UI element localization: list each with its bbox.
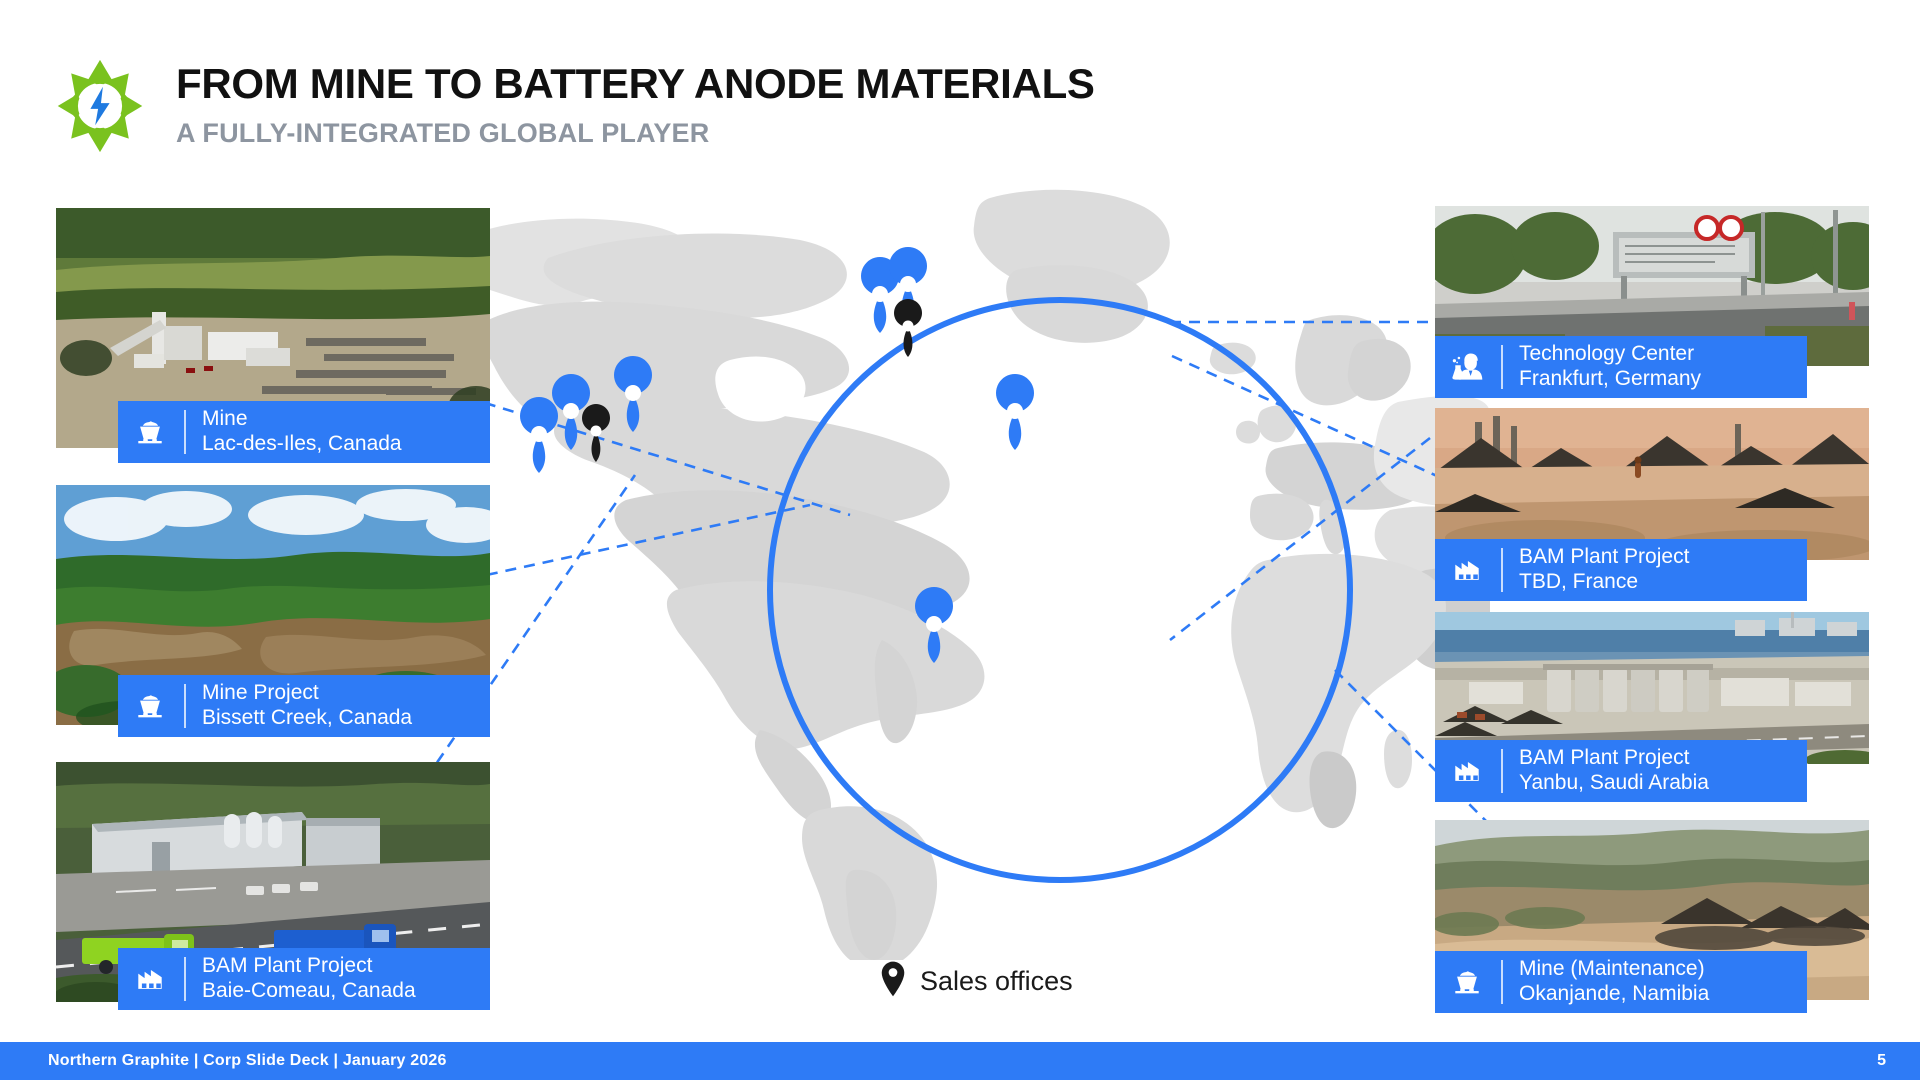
info-label-line1: Mine (Maintenance) xyxy=(1519,957,1705,980)
page-subtitle: A FULLY-INTEGRATED GLOBAL PLAYER xyxy=(176,118,1095,149)
label-divider xyxy=(184,410,186,454)
info-label-line1: Mine Project xyxy=(202,681,319,704)
map-legend: Sales offices xyxy=(880,960,1073,1003)
info-label-line2: Yanbu, Saudi Arabia xyxy=(1519,771,1709,794)
info-label-line2: Frankfurt, Germany xyxy=(1519,367,1701,390)
info-label-left-2: Mine Project Bissett Creek, Canada xyxy=(118,675,490,737)
factory-icon xyxy=(1447,751,1487,791)
info-label-left-1: Mine Lac-des-Iles, Canada xyxy=(118,401,490,463)
info-label-line2: Baie-Comeau, Canada xyxy=(202,979,416,1002)
world-map[interactable] xyxy=(430,170,1490,960)
map-legend-label: Sales offices xyxy=(920,966,1073,997)
info-label-text: BAM Plant Project Yanbu, Saudi Arabia xyxy=(1519,746,1709,796)
info-label-line1: BAM Plant Project xyxy=(202,954,372,977)
mine-cart-icon xyxy=(130,412,170,452)
label-divider xyxy=(184,684,186,728)
pin-lac-des-iles[interactable] xyxy=(520,397,558,473)
info-label-line1: BAM Plant Project xyxy=(1519,746,1689,769)
info-label-left-3: BAM Plant Project Baie-Comeau, Canada xyxy=(118,948,490,1010)
footer-text: Northern Graphite | Corp Slide Deck | Ja… xyxy=(48,1052,447,1070)
info-label-right-2: BAM Plant Project TBD, France xyxy=(1435,539,1807,601)
photo-card-right-2 xyxy=(1435,408,1869,560)
info-label-text: Mine Project Bissett Creek, Canada xyxy=(202,681,412,731)
scientist-flask-icon xyxy=(1447,347,1487,387)
footer-page-number: 5 xyxy=(1877,1052,1886,1070)
label-divider xyxy=(184,957,186,1001)
factory-icon xyxy=(130,959,170,999)
info-label-right-3: BAM Plant Project Yanbu, Saudi Arabia xyxy=(1435,740,1807,802)
map-pin-icon xyxy=(880,960,906,1003)
info-label-line1: Mine xyxy=(202,407,248,430)
info-label-right-1: Technology Center Frankfurt, Germany xyxy=(1435,336,1807,398)
mine-cart-icon xyxy=(130,686,170,726)
slide-canvas: FROM MINE TO BATTERY ANODE MATERIALS A F… xyxy=(0,0,1920,1080)
info-label-text: Mine Lac-des-Iles, Canada xyxy=(202,407,402,457)
info-label-right-4: Mine (Maintenance) Okanjande, Namibia xyxy=(1435,951,1807,1013)
info-label-line1: BAM Plant Project xyxy=(1519,545,1689,568)
info-label-text: Technology Center Frankfurt, Germany xyxy=(1519,342,1701,392)
info-label-text: Mine (Maintenance) Okanjande, Namibia xyxy=(1519,957,1709,1007)
info-label-line2: Lac-des-Iles, Canada xyxy=(202,432,402,455)
mine-cart-icon xyxy=(1447,962,1487,1002)
info-label-line2: TBD, France xyxy=(1519,570,1638,593)
page-title: FROM MINE TO BATTERY ANODE MATERIALS xyxy=(176,62,1095,106)
info-label-line1: Technology Center xyxy=(1519,342,1694,365)
compass-bolt-logo xyxy=(52,58,148,154)
map-landmasses xyxy=(452,190,1490,960)
factory-icon xyxy=(1447,550,1487,590)
info-label-text: BAM Plant Project TBD, France xyxy=(1519,545,1689,595)
label-divider xyxy=(1501,345,1503,389)
info-label-line2: Bissett Creek, Canada xyxy=(202,706,412,729)
label-divider xyxy=(1501,960,1503,1004)
info-label-text: BAM Plant Project Baie-Comeau, Canada xyxy=(202,954,416,1004)
label-divider xyxy=(1501,749,1503,793)
label-divider xyxy=(1501,548,1503,592)
info-label-line2: Okanjande, Namibia xyxy=(1519,982,1709,1005)
pin-yanbu[interactable] xyxy=(996,374,1034,450)
title-block: FROM MINE TO BATTERY ANODE MATERIALS A F… xyxy=(176,62,1095,149)
slide-footer: Northern Graphite | Corp Slide Deck | Ja… xyxy=(0,1042,1920,1080)
